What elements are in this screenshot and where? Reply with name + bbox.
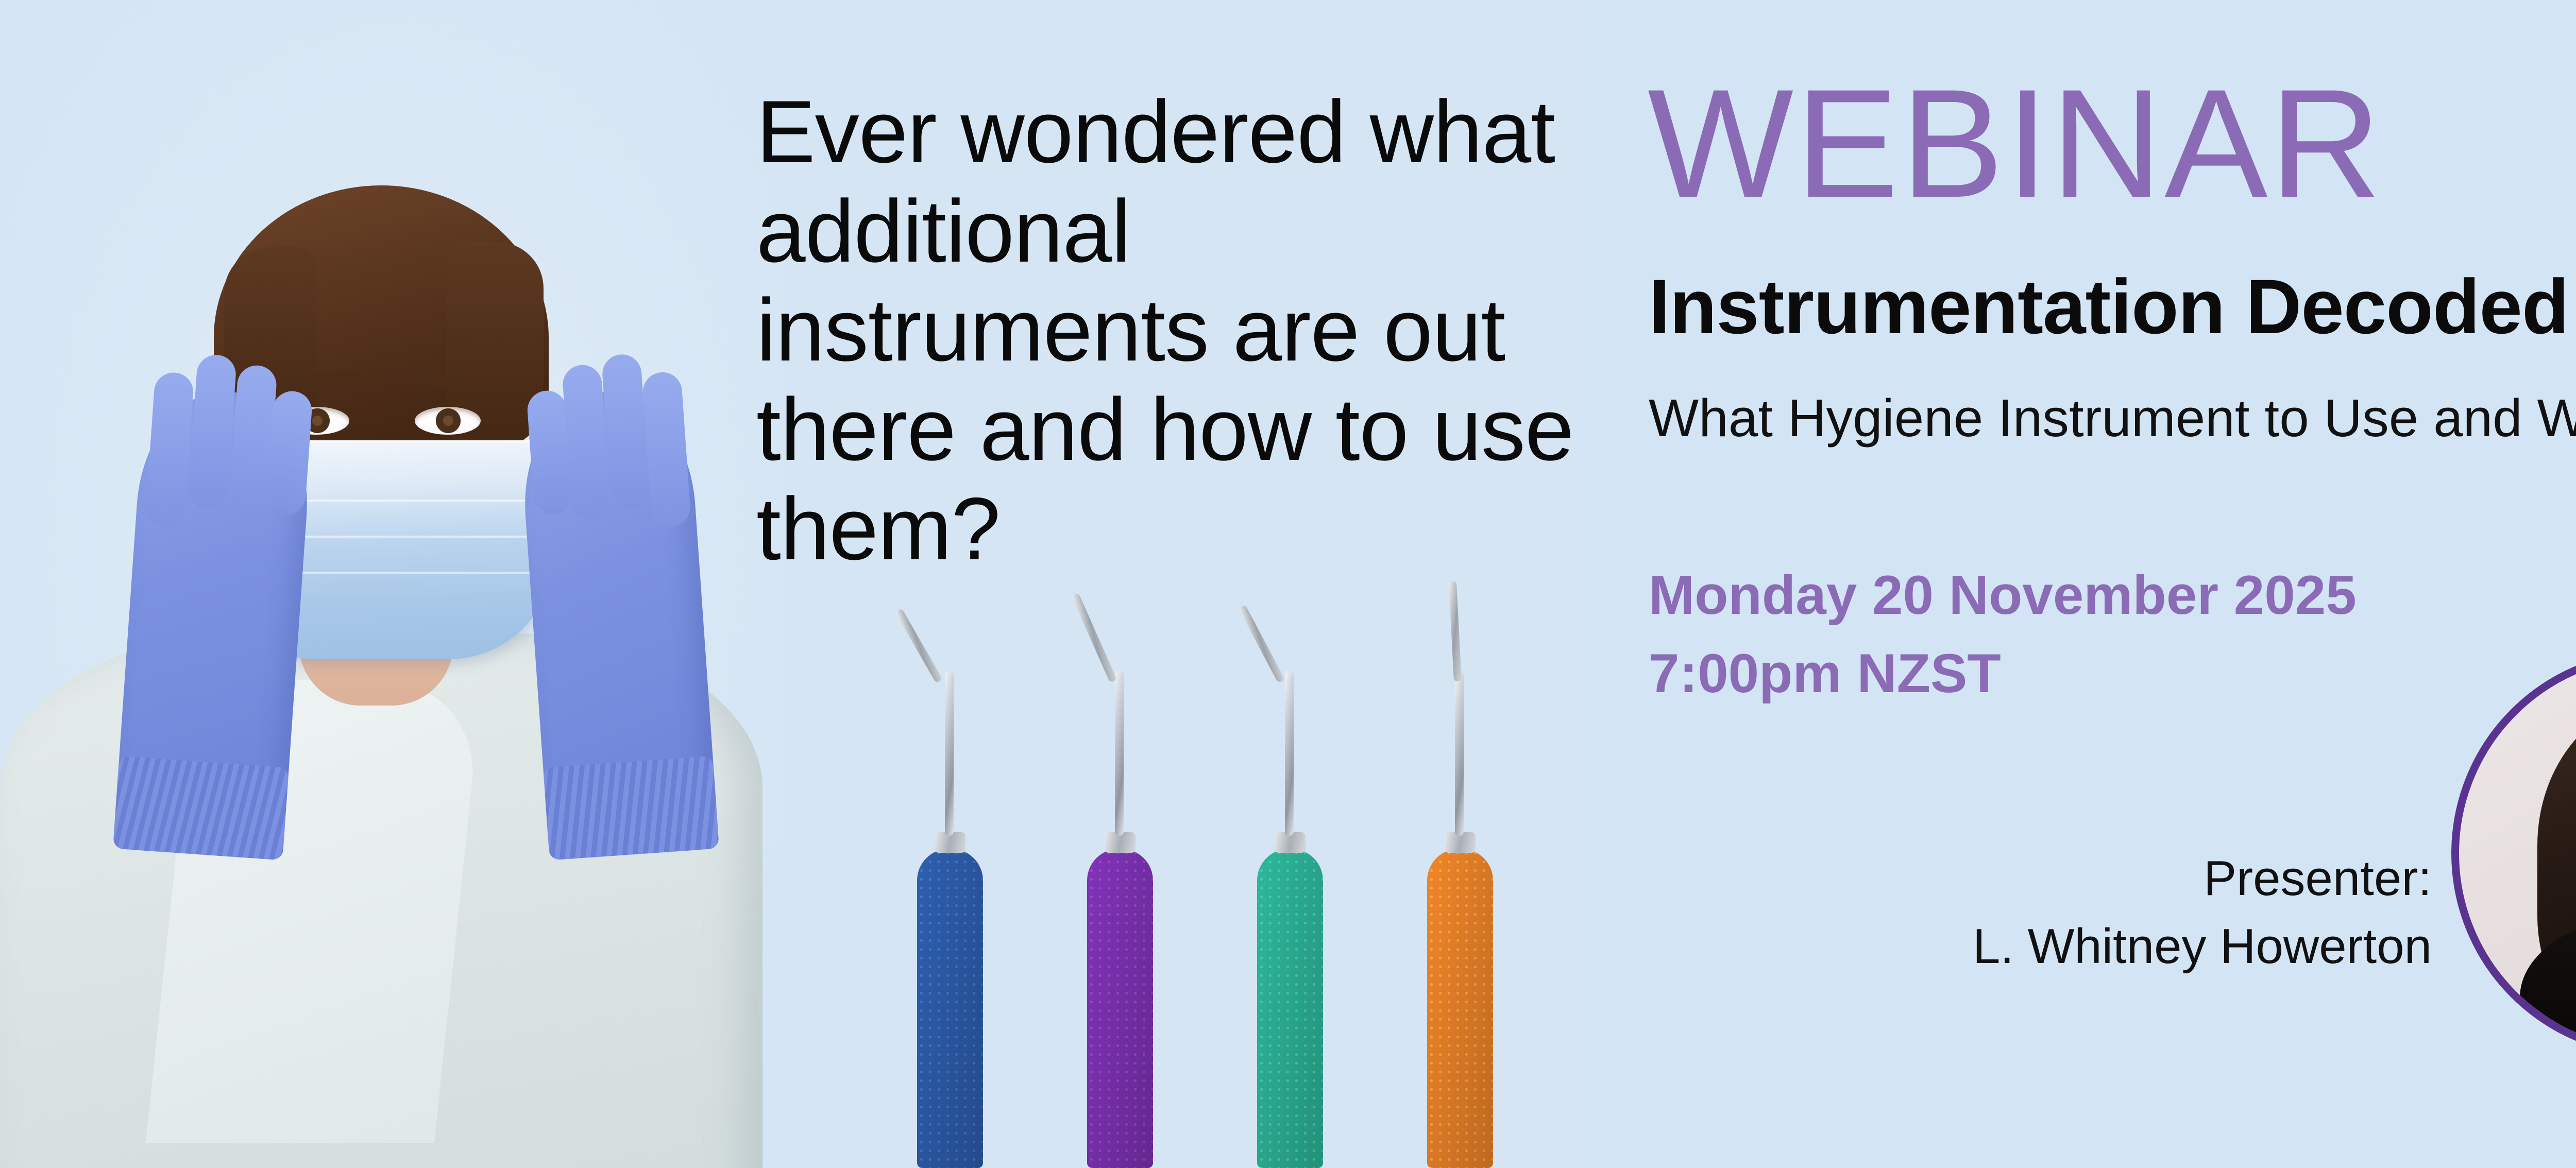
webinar-datetime: Monday 20 November 2025 7:00pm NZST xyxy=(1649,556,2357,713)
webinar-title: Instrumentation Decoded xyxy=(1649,268,2569,345)
finger xyxy=(265,390,313,516)
presenter-block: Presenter: L. Whitney Howerton xyxy=(1752,845,2432,981)
webinar-subtitle: What Hygiene Instrument to Use and When xyxy=(1649,391,2576,444)
instrument-handle xyxy=(1087,849,1153,1168)
presenter-label: Presenter: xyxy=(1752,845,2432,913)
instrument-shank xyxy=(1285,671,1294,836)
glove-cuff xyxy=(543,756,719,861)
instrument-shank xyxy=(1115,671,1124,836)
instrument-handle xyxy=(917,849,983,1168)
webinar-banner: Ever wondered what additional instrument… xyxy=(0,0,2576,1168)
instrument-handle xyxy=(1427,849,1493,1168)
page-title: WEBINAR xyxy=(1648,66,2383,220)
hygienist-photo xyxy=(0,0,783,1168)
instrument-shank xyxy=(945,671,954,836)
webinar-date: Monday 20 November 2025 xyxy=(1649,556,2357,634)
instrument-shank xyxy=(1455,671,1464,836)
instrument-handle xyxy=(1257,849,1323,1168)
glove-cuff xyxy=(113,756,289,861)
presenter-name: L. Whitney Howerton xyxy=(1752,913,2432,981)
iris-right xyxy=(436,408,461,433)
webinar-time: 7:00pm NZST xyxy=(1649,634,2357,713)
dental-instruments-group xyxy=(917,646,1566,1168)
headline-question: Ever wondered what additional instrument… xyxy=(756,82,1581,578)
